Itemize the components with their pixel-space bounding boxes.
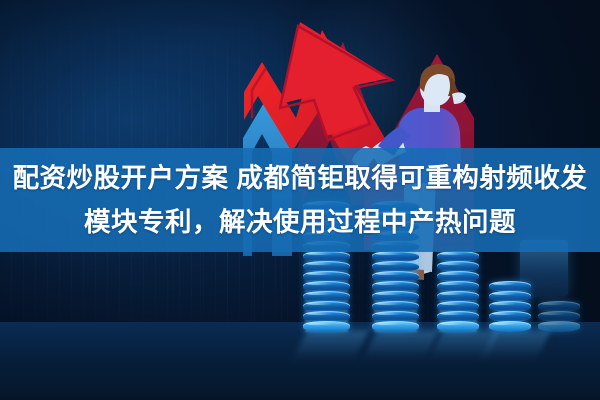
headline-line-1: 配资炒股开户方案 成都简钜取得可重构射频收发 bbox=[13, 156, 588, 200]
coin bbox=[372, 321, 419, 332]
banner-image: 配资炒股开户方案 成都简钜取得可重构射频收发 模块专利，解决使用过程中产热问题 bbox=[0, 0, 600, 400]
coin-shadow-2 bbox=[363, 330, 440, 360]
coin-stack-5 bbox=[538, 302, 580, 332]
headline-banner: 配资炒股开户方案 成都简钜取得可重构射频收发 模块专利，解决使用过程中产热问题 bbox=[0, 148, 600, 252]
coin bbox=[538, 321, 580, 332]
headline-line-2: 模块专利，解决使用过程中产热问题 bbox=[84, 200, 516, 244]
coin bbox=[303, 321, 350, 332]
coin-stack-3 bbox=[437, 252, 479, 332]
coin bbox=[489, 321, 531, 332]
coin-stack-4 bbox=[489, 282, 531, 332]
coin bbox=[437, 321, 479, 332]
coin-shadow-1 bbox=[293, 330, 370, 360]
